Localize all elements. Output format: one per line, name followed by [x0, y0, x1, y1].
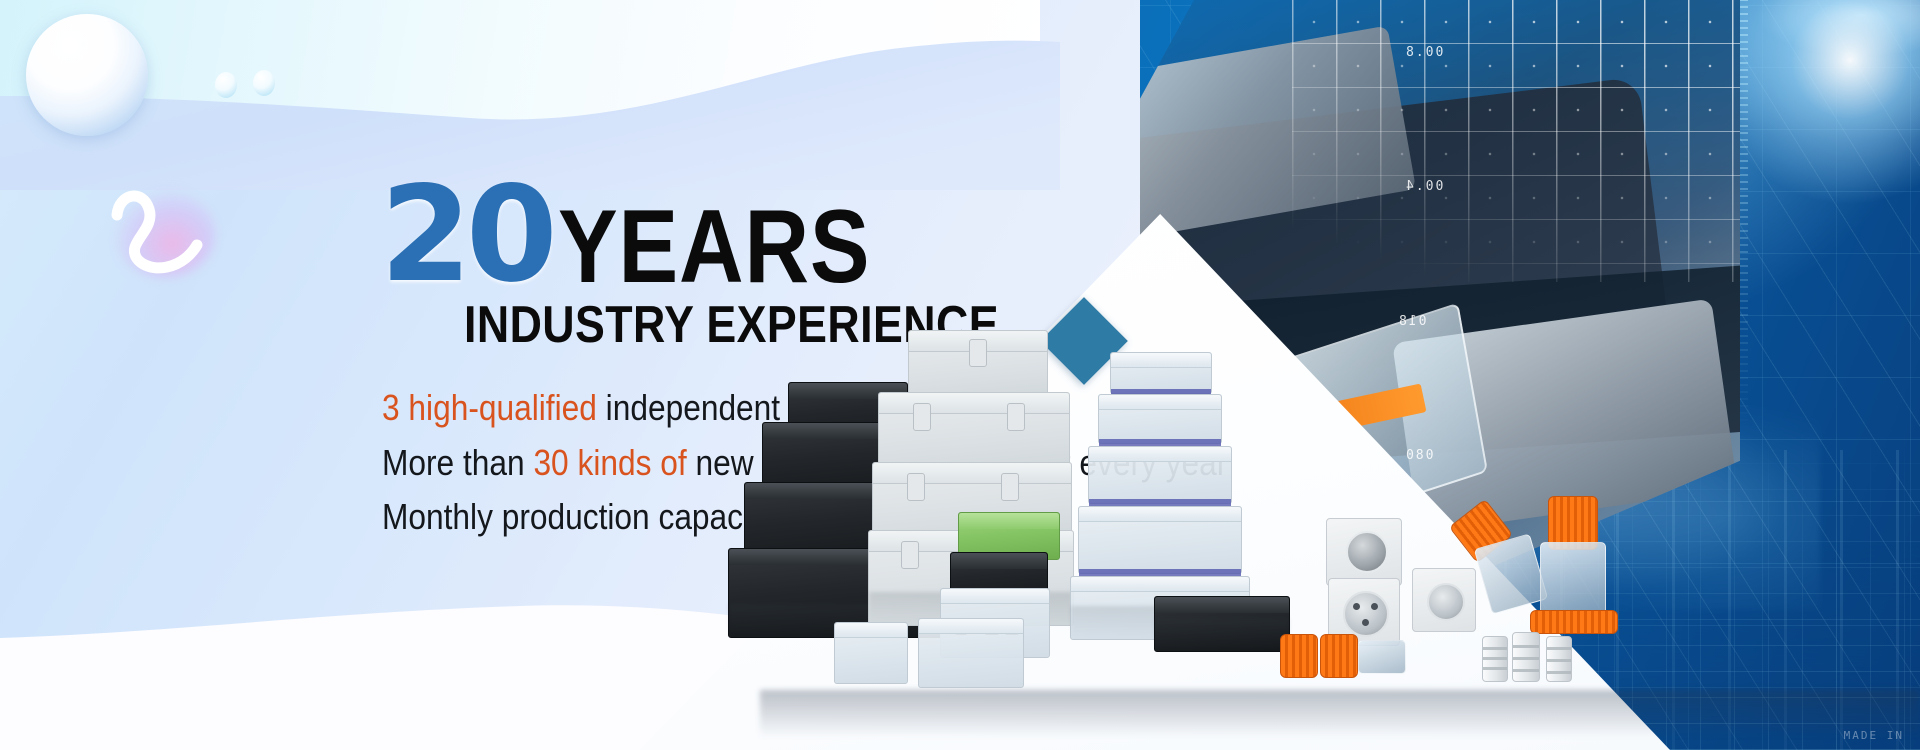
bubble-decoration-1 [215, 72, 237, 98]
years-word: YEARS [558, 204, 870, 291]
machine-plus-grid-rows [1292, 0, 1740, 282]
squiggle-decoration [105, 175, 225, 280]
product-group [740, 390, 1920, 750]
machine-label-0: 00.8 [1404, 45, 1443, 60]
wall-socket [1412, 568, 1476, 632]
product-clear-3 [1088, 446, 1232, 504]
product-small-clear-1 [834, 622, 908, 684]
cable-gland-1 [1482, 636, 1508, 682]
connector-clear-body-1 [1474, 533, 1548, 614]
bullet-0-part-0: 3 high-qualified [382, 387, 597, 428]
orange-inline-connector-2 [1320, 634, 1358, 678]
product-clear-4 [1078, 506, 1242, 574]
watermark-text: MADE IN [1844, 729, 1904, 742]
years-number: 20 [380, 180, 552, 291]
orange-connector-base [1530, 610, 1618, 634]
orange-inline-connector-1 [1280, 634, 1318, 678]
product-small-clear-2 [918, 618, 1024, 688]
sphere-decoration [26, 14, 148, 136]
cable-gland-2 [1512, 632, 1540, 682]
product-clear-2 [1098, 394, 1222, 444]
machine-label-2: 018 [1397, 314, 1426, 329]
isolator-switch [1326, 518, 1402, 586]
cable-gland-3 [1546, 636, 1572, 682]
bubble-decoration-2 [253, 70, 275, 96]
inline-clear-body [1358, 640, 1406, 674]
connector-clear-body-2 [1540, 542, 1606, 616]
bullet-1-part-1: 30 kinds of [533, 442, 686, 483]
bullet-1-part-0: More than [382, 442, 533, 483]
machine-label-1: 00.4 [1404, 179, 1443, 194]
product-box-dark-right [1154, 596, 1290, 652]
promo-banner: 00.8 00.4 018 080 088 20 [0, 0, 1920, 750]
headline-row: 20 YEARS [380, 180, 1140, 291]
product-clear-1 [1110, 352, 1212, 394]
